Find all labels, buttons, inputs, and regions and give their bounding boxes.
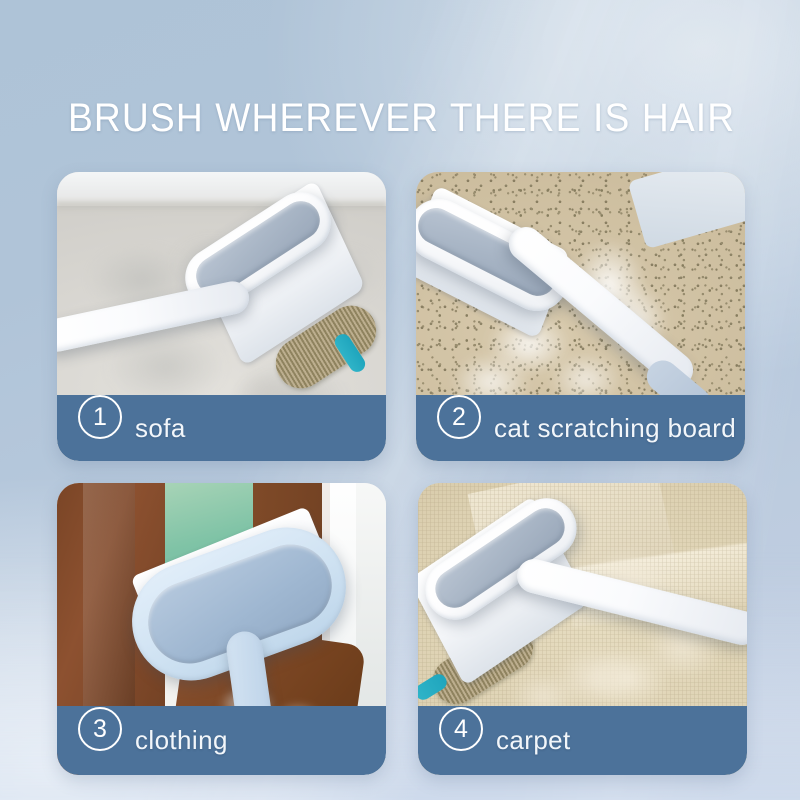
card-number-badge: 3: [78, 707, 122, 751]
card-label: clothing: [135, 725, 228, 756]
card-label: carpet: [496, 725, 571, 756]
card-label: sofa: [135, 413, 186, 444]
feature-card-sofa[interactable]: sofa 1: [57, 172, 386, 461]
feature-card-carpet[interactable]: carpet 4: [418, 483, 747, 775]
page-title: BRUSH WHEREVER THERE IS HAIR: [68, 96, 735, 140]
brush-handle: [57, 278, 252, 354]
product-feature-poster: BRUSH WHEREVER THERE IS HAIR: [0, 0, 800, 800]
card-label: cat scratching board: [494, 413, 736, 444]
card-number-badge: 2: [437, 395, 481, 439]
card-number-badge: 1: [78, 395, 122, 439]
card-number-badge: 4: [439, 707, 483, 751]
feature-card-clothing[interactable]: clothing 3: [57, 483, 386, 775]
feature-card-grid: sofa 1: [57, 172, 745, 775]
feature-card-cat-scratching-board[interactable]: cat scratching board 2: [416, 172, 745, 461]
